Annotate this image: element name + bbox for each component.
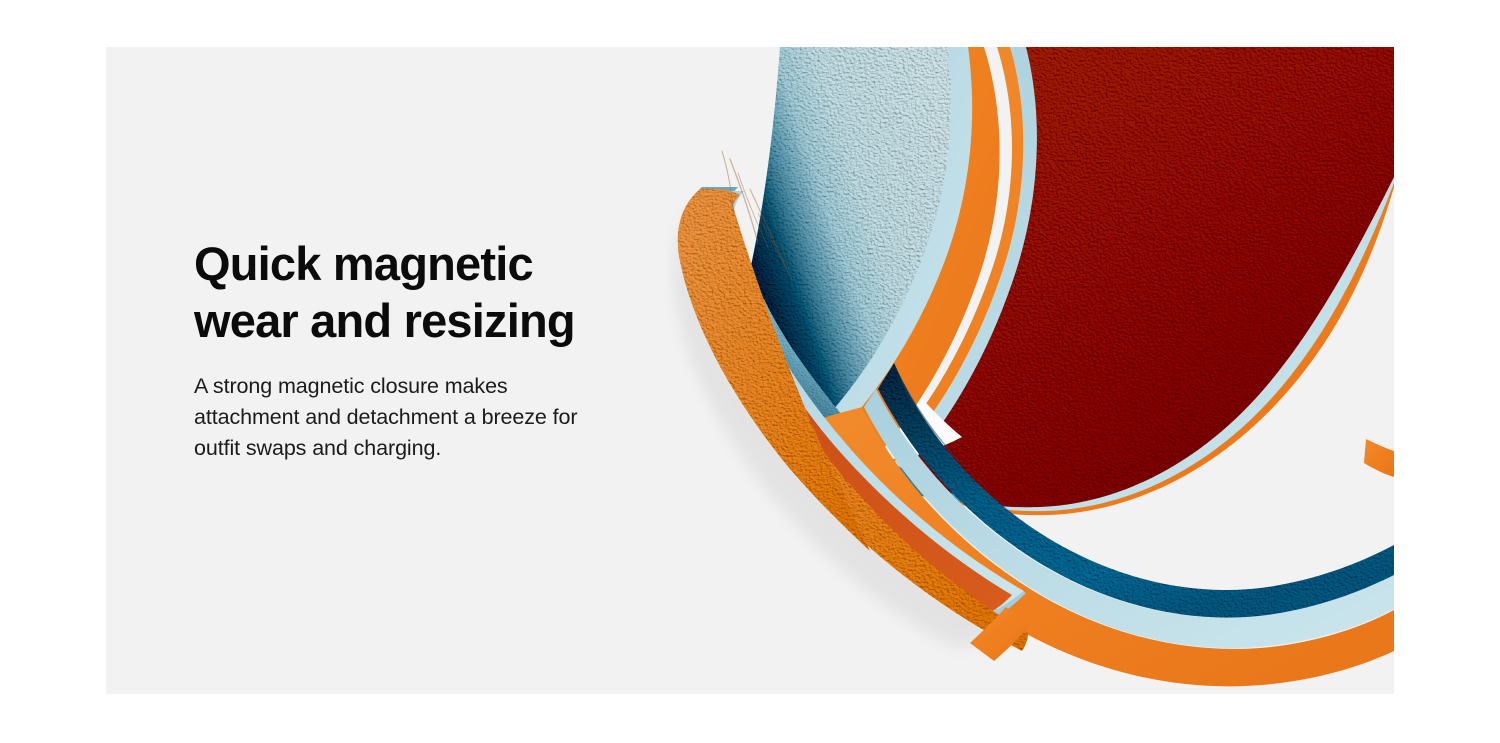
copy-block: Quick magnetic wear and resizing A stron…: [194, 235, 664, 464]
layered-leather-straps-image: [666, 47, 1394, 694]
strap-artwork-svg: [666, 47, 1394, 694]
page-root: Quick magnetic wear and resizing A stron…: [0, 0, 1500, 743]
feature-card: Quick magnetic wear and resizing A stron…: [106, 47, 1394, 694]
subtitle-text: A strong magnetic closure makes attachme…: [194, 371, 614, 464]
page-title: Quick magnetic wear and resizing: [194, 235, 664, 349]
